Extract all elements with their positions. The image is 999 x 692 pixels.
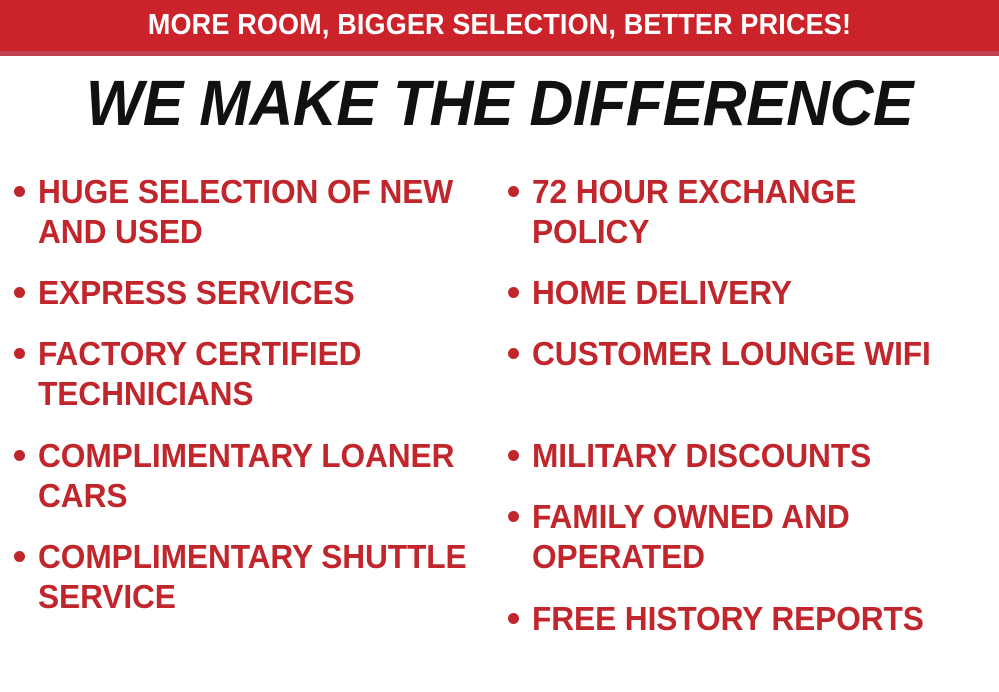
page-title: WE MAKE THE DIFFERENCE bbox=[25, 68, 974, 138]
promo-bar-underline bbox=[0, 51, 999, 56]
promo-bar: MORE ROOM, BIGGER SELECTION, BETTER PRIC… bbox=[0, 0, 999, 56]
bullet-dot-icon bbox=[508, 450, 519, 461]
feature-column-right: 72 HOUR EXCHANGE POLICYHOME DELIVERYCUST… bbox=[508, 160, 999, 692]
feature-list-item-label: CUSTOMER LOUNGE WIFI bbox=[532, 334, 980, 374]
feature-list-item-label: FAMILY OWNED AND OPERATED bbox=[532, 497, 980, 577]
promo-banner: MORE ROOM, BIGGER SELECTION, BETTER PRIC… bbox=[0, 0, 999, 692]
bullet-dot-icon bbox=[508, 511, 519, 522]
feature-columns: HUGE SELECTION OF NEW AND USEDEXPRESS SE… bbox=[0, 160, 999, 692]
bullet-dot-icon bbox=[14, 551, 25, 562]
bullet-dot-icon bbox=[14, 287, 25, 298]
feature-list-item: FACTORY CERTIFIED TECHNICIANS bbox=[14, 334, 504, 414]
feature-list-item-label: COMPLIMENTARY LOANER CARS bbox=[38, 436, 485, 516]
bullet-dot-icon bbox=[508, 186, 519, 197]
feature-list-item-label: EXPRESS SERVICES bbox=[38, 273, 485, 313]
feature-list-item: MILITARY DISCOUNTS bbox=[508, 436, 999, 476]
bullet-dot-icon bbox=[508, 287, 519, 298]
bullet-dot-icon bbox=[14, 450, 25, 461]
bullet-dot-icon bbox=[508, 613, 519, 624]
feature-list-item-label: HUGE SELECTION OF NEW AND USED bbox=[38, 172, 485, 252]
feature-list-item-label: MILITARY DISCOUNTS bbox=[532, 436, 980, 476]
feature-list-item-label: HOME DELIVERY bbox=[532, 273, 980, 313]
feature-list-item: 72 HOUR EXCHANGE POLICY bbox=[508, 172, 999, 252]
bullet-dot-icon bbox=[508, 348, 519, 359]
feature-list-item: HUGE SELECTION OF NEW AND USED bbox=[14, 172, 504, 252]
feature-column-left: HUGE SELECTION OF NEW AND USEDEXPRESS SE… bbox=[14, 160, 504, 692]
feature-list-item-label: COMPLIMENTARY SHUTTLE SERVICE bbox=[38, 537, 485, 617]
feature-list-item: COMPLIMENTARY LOANER CARS bbox=[14, 436, 504, 516]
feature-list-item: EXPRESS SERVICES bbox=[14, 273, 504, 313]
feature-list-item: FAMILY OWNED AND OPERATED bbox=[508, 497, 999, 577]
feature-list-item-label: 72 HOUR EXCHANGE POLICY bbox=[532, 172, 980, 252]
feature-list-item: CUSTOMER LOUNGE WIFI bbox=[508, 334, 999, 374]
bullet-dot-icon bbox=[14, 348, 25, 359]
feature-list-item-label: FREE HISTORY REPORTS bbox=[532, 599, 980, 639]
feature-list-item: HOME DELIVERY bbox=[508, 273, 999, 313]
promo-bar-text: MORE ROOM, BIGGER SELECTION, BETTER PRIC… bbox=[35, 0, 964, 51]
bullet-dot-icon bbox=[14, 186, 25, 197]
feature-list-item: COMPLIMENTARY SHUTTLE SERVICE bbox=[14, 537, 504, 617]
feature-list-item: FREE HISTORY REPORTS bbox=[508, 599, 999, 639]
feature-list-item-label: FACTORY CERTIFIED TECHNICIANS bbox=[38, 334, 485, 414]
